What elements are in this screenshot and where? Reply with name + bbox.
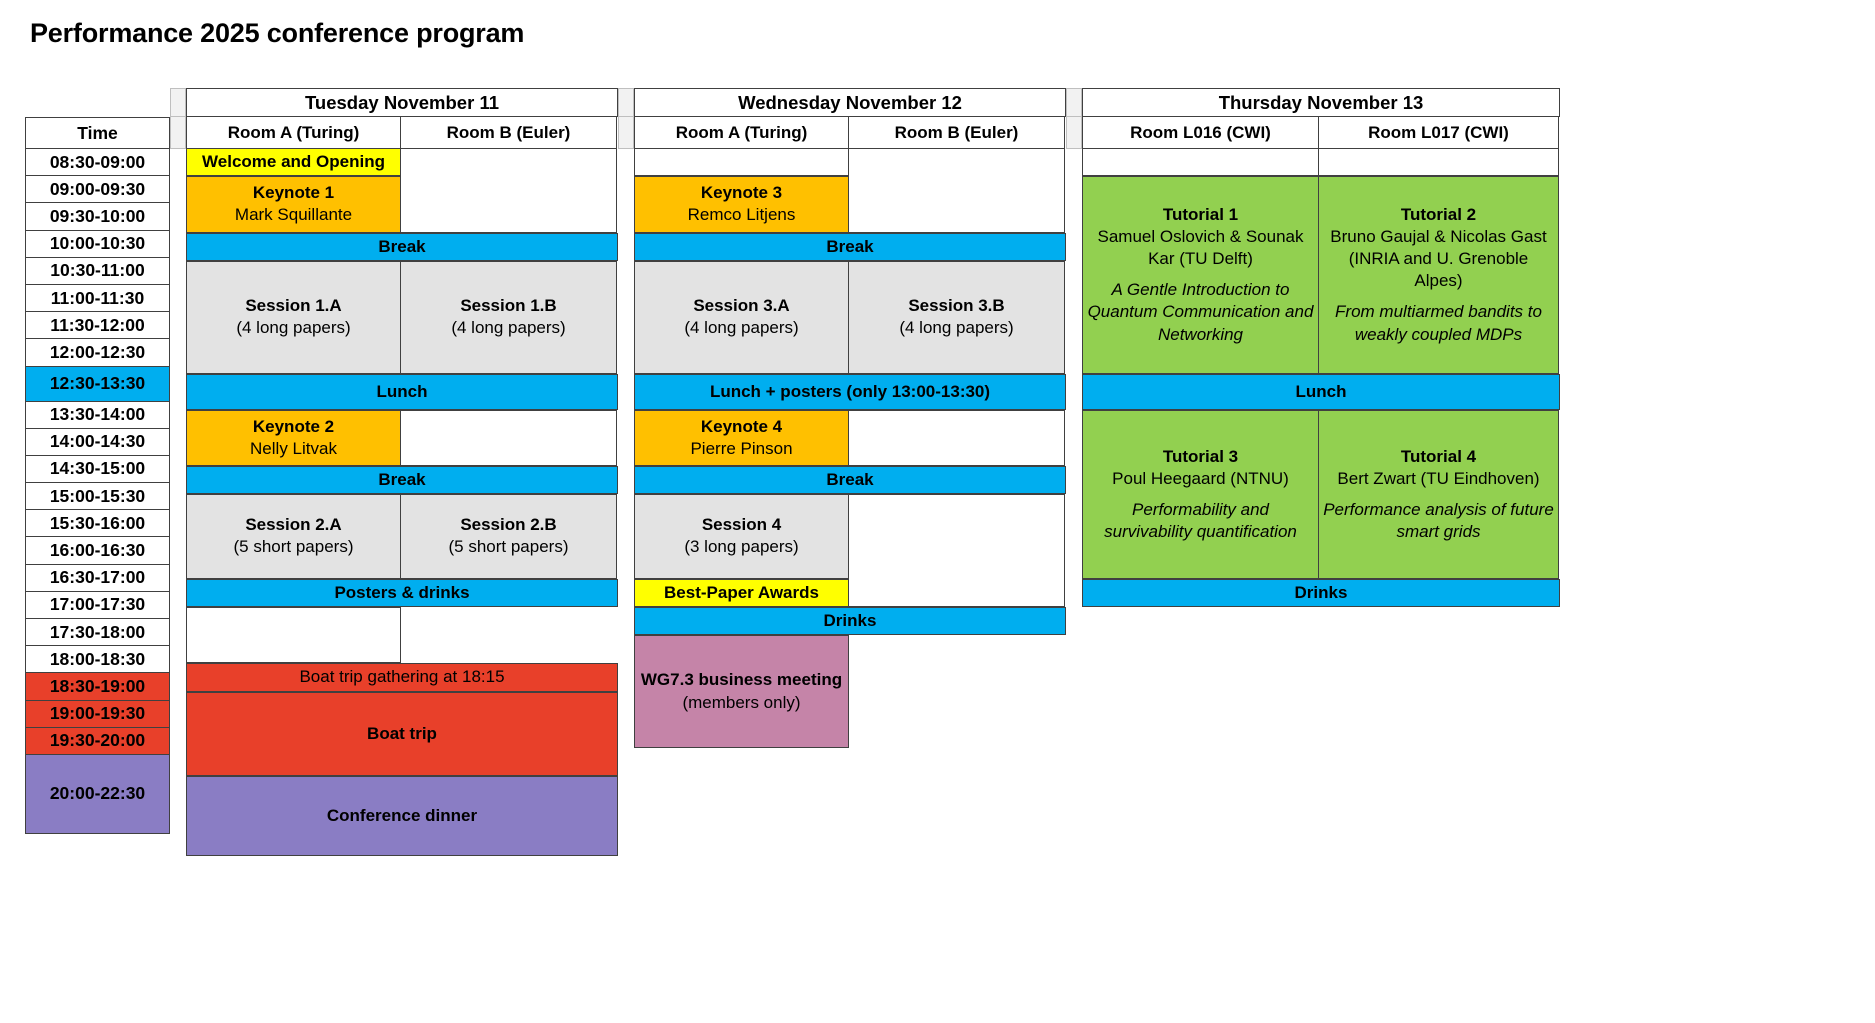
event-subtitle: (4 long papers) (899, 317, 1013, 339)
event-thursday-tutorial-4[interactable]: Tutorial 4Bert Zwart (TU Eindhoven)Perfo… (1318, 410, 1559, 579)
time-slot: 19:30-20:00 (25, 727, 170, 755)
event-wednesday-session-3a[interactable]: Session 3.A(4 long papers) (634, 261, 849, 374)
event-title: Boat trip (367, 723, 437, 745)
event-title: Conference dinner (327, 805, 477, 827)
gap-top (170, 88, 186, 117)
event-tuesday-session-2a[interactable]: Session 2.A(5 short papers) (186, 494, 401, 579)
time-slot: 09:30-10:00 (25, 202, 170, 230)
event-thursday-tutorial-3[interactable]: Tutorial 3Poul Heegaard (NTNU)Performabi… (1082, 410, 1319, 579)
event-thursday-tutorial-1[interactable]: Tutorial 1Samuel Oslovich & Sounak Kar (… (1082, 176, 1319, 373)
event-title: Session 2.A (245, 514, 341, 536)
day-title-thursday: Thursday November 13 (1082, 88, 1560, 117)
room-header-thursday-1: Room L017 (CWI) (1318, 117, 1559, 149)
event-title: Tutorial 2 (1401, 204, 1476, 226)
room-header-row-wednesday: Room A (Turing)Room B (Euler) (634, 117, 1066, 149)
event-title: Lunch (1296, 381, 1347, 403)
event-title: Keynote 3 (701, 182, 782, 204)
event-wednesday-lunch-posters[interactable]: Lunch + posters (only 13:00-13:30) (634, 374, 1066, 410)
event-subtitle: Bruno Gaujal & Nicolas Gast (INRIA and U… (1323, 226, 1554, 292)
event-subtitle: Samuel Oslovich & Sounak Kar (TU Delft) (1087, 226, 1314, 270)
time-slot: 20:00-22:30 (25, 754, 170, 834)
event-title: WG7.3 business meeting (641, 669, 842, 691)
event-abstract-title: Performance analysis of future smart gri… (1323, 499, 1554, 543)
event-title: Session 1.B (460, 295, 556, 317)
event-tuesday-conference-dinner[interactable]: Conference dinner (186, 776, 618, 856)
time-column-spacer (25, 88, 170, 117)
event-title: Session 3.A (693, 295, 789, 317)
time-slot: 10:30-11:00 (25, 257, 170, 285)
event-title: Drinks (1295, 582, 1348, 604)
event-abstract-title: Performability and survivability quantif… (1087, 499, 1314, 543)
event-subtitle: Remco Litjens (688, 204, 796, 226)
event-title: Lunch (377, 381, 428, 403)
time-slot: 15:30-16:00 (25, 509, 170, 537)
event-title: Tutorial 4 (1401, 446, 1476, 468)
program-grid: Time08:30-09:0009:00-09:3009:30-10:0010:… (25, 88, 1560, 856)
event-subtitle: Pierre Pinson (690, 438, 792, 460)
event-abstract-title: A Gentle Introduction to Quantum Communi… (1087, 279, 1314, 345)
event-subtitle: (5 short papers) (234, 536, 354, 558)
time-column: Time08:30-09:0009:00-09:3009:30-10:0010:… (25, 88, 170, 834)
time-slot: 13:30-14:00 (25, 401, 170, 429)
empty-slot (400, 410, 617, 466)
room-header-row-tuesday: Room A (Turing)Room B (Euler) (186, 117, 618, 149)
event-title: Keynote 4 (701, 416, 782, 438)
event-title: Keynote 2 (253, 416, 334, 438)
room-header-row-thursday: Room L016 (CWI)Room L017 (CWI) (1082, 117, 1560, 149)
event-tuesday-boat-trip[interactable]: Boat trip (186, 692, 618, 777)
room-header-tuesday-1: Room B (Euler) (400, 117, 617, 149)
event-tuesday-session-1a[interactable]: Session 1.A(4 long papers) (186, 261, 401, 374)
event-subtitle: Boat trip gathering at 18:15 (299, 666, 504, 688)
event-title: Tutorial 3 (1163, 446, 1238, 468)
event-thursday-tutorial-2[interactable]: Tutorial 2Bruno Gaujal & Nicolas Gast (I… (1318, 176, 1559, 373)
empty-slot (848, 148, 1065, 233)
event-title: Break (378, 469, 425, 491)
gap-head (1066, 117, 1082, 149)
event-tuesday-lunch[interactable]: Lunch (186, 374, 618, 410)
event-title: Best-Paper Awards (664, 582, 819, 604)
empty-slot (400, 148, 617, 233)
day-column-thursday: Thursday November 13Room L016 (CWI)Room … (1082, 88, 1560, 607)
time-column-header: Time (25, 117, 170, 149)
time-slot: 18:30-19:00 (25, 672, 170, 700)
event-wednesday-drinks[interactable]: Drinks (634, 607, 1066, 635)
event-subtitle: (5 short papers) (449, 536, 569, 558)
event-thursday-lunch[interactable]: Lunch (1082, 374, 1560, 410)
event-tuesday-boat-trip-gathering[interactable]: Boat trip gathering at 18:15 (186, 663, 618, 691)
day-body-wednesday: Keynote 3Remco LitjensBreakSession 3.A(4… (634, 148, 1066, 635)
day-body-tuesday: Welcome and OpeningKeynote 1Mark Squilla… (186, 148, 618, 856)
empty-slot (634, 148, 849, 176)
event-subtitle: (4 long papers) (451, 317, 565, 339)
gap-head (618, 117, 634, 149)
event-title: Tutorial 1 (1163, 204, 1238, 226)
time-slot: 12:30-13:30 (25, 366, 170, 402)
event-tuesday-break-afternoon[interactable]: Break (186, 466, 618, 494)
event-tuesday-welcome-and-opening[interactable]: Welcome and Opening (186, 148, 401, 176)
event-subtitle: (members only) (682, 692, 800, 714)
time-slot: 19:00-19:30 (25, 700, 170, 728)
day-column-tuesday: Tuesday November 11Room A (Turing)Room B… (186, 88, 618, 856)
time-slot: 14:00-14:30 (25, 428, 170, 456)
time-slot: 08:30-09:00 (25, 148, 170, 176)
event-subtitle: Bert Zwart (TU Eindhoven) (1337, 468, 1539, 490)
event-subtitle: Poul Heegaard (NTNU) (1112, 468, 1289, 490)
event-title: Session 1.A (245, 295, 341, 317)
time-slot: 15:00-15:30 (25, 482, 170, 510)
day-title-wednesday: Wednesday November 12 (634, 88, 1066, 117)
event-tuesday-keynote-1[interactable]: Keynote 1Mark Squillante (186, 176, 401, 232)
event-abstract-title: From multiarmed bandits to weakly couple… (1323, 301, 1554, 345)
time-slot: 17:30-18:00 (25, 618, 170, 646)
day-body-thursday: Tutorial 1Samuel Oslovich & Sounak Kar (… (1082, 148, 1560, 607)
event-wednesday-session-3b[interactable]: Session 3.B(4 long papers) (848, 261, 1065, 374)
event-subtitle: (3 long papers) (684, 536, 798, 558)
event-title: Posters & drinks (334, 582, 469, 604)
event-title: Break (826, 469, 873, 491)
event-tuesday-keynote-2[interactable]: Keynote 2Nelly Litvak (186, 410, 401, 466)
gap-head (170, 117, 186, 149)
event-subtitle: (4 long papers) (236, 317, 350, 339)
time-slot: 16:30-17:00 (25, 564, 170, 592)
event-wednesday-keynote-4[interactable]: Keynote 4Pierre Pinson (634, 410, 849, 466)
day-column-wednesday: Wednesday November 12Room A (Turing)Room… (634, 88, 1066, 635)
event-tuesday-posters-and-drinks[interactable]: Posters & drinks (186, 579, 618, 607)
event-wednesday-best-paper-awards[interactable]: Best-Paper Awards (634, 579, 849, 607)
empty-slot (1082, 148, 1319, 176)
empty-slot (848, 494, 1065, 607)
event-title: Session 3.B (908, 295, 1004, 317)
gap-top (618, 88, 634, 117)
time-slot: 09:00-09:30 (25, 175, 170, 203)
room-header-thursday-0: Room L016 (CWI) (1082, 117, 1319, 149)
empty-slot (1318, 148, 1559, 176)
time-slot: 18:00-18:30 (25, 645, 170, 673)
time-slot: 14:30-15:00 (25, 455, 170, 483)
event-title: Session 2.B (460, 514, 556, 536)
event-subtitle: Mark Squillante (235, 204, 352, 226)
room-header-tuesday-0: Room A (Turing) (186, 117, 401, 149)
event-title: Break (826, 236, 873, 258)
event-tuesday-session-1b[interactable]: Session 1.B(4 long papers) (400, 261, 617, 374)
time-slot: 10:00-10:30 (25, 230, 170, 258)
column-gap-tuesday (170, 88, 186, 149)
room-header-wednesday-0: Room A (Turing) (634, 117, 849, 149)
page-title: Performance 2025 conference program (30, 18, 524, 49)
time-slot: 12:00-12:30 (25, 338, 170, 366)
event-tuesday-session-2b[interactable]: Session 2.B(5 short papers) (400, 494, 617, 579)
event-wednesday-wg73-business-meeting[interactable]: WG7.3 business meeting(members only) (634, 635, 849, 748)
column-gap-thursday (1066, 88, 1082, 149)
time-slot: 16:00-16:30 (25, 536, 170, 564)
event-wednesday-break-morning[interactable]: Break (634, 233, 1066, 261)
event-title: Welcome and Opening (202, 151, 385, 173)
event-title: Break (378, 236, 425, 258)
event-title: Keynote 1 (253, 182, 334, 204)
event-title: Lunch + posters (only 13:00-13:30) (710, 381, 990, 403)
event-wednesday-keynote-3[interactable]: Keynote 3Remco Litjens (634, 176, 849, 232)
event-title: Drinks (824, 610, 877, 632)
column-gap-wednesday (618, 88, 634, 149)
event-wednesday-session-4[interactable]: Session 4(3 long papers) (634, 494, 849, 579)
event-tuesday-break-morning[interactable]: Break (186, 233, 618, 261)
time-slot: 11:00-11:30 (25, 284, 170, 312)
event-subtitle: Nelly Litvak (250, 438, 337, 460)
gap-top (1066, 88, 1082, 117)
empty-slot (848, 410, 1065, 466)
day-title-tuesday: Tuesday November 11 (186, 88, 618, 117)
event-subtitle: (4 long papers) (684, 317, 798, 339)
room-header-wednesday-1: Room B (Euler) (848, 117, 1065, 149)
event-title: Session 4 (702, 514, 781, 536)
time-slot: 17:00-17:30 (25, 591, 170, 619)
time-slot: 11:30-12:00 (25, 311, 170, 339)
empty-slot (186, 607, 401, 663)
event-thursday-drinks[interactable]: Drinks (1082, 579, 1560, 607)
event-wednesday-break-afternoon[interactable]: Break (634, 466, 1066, 494)
